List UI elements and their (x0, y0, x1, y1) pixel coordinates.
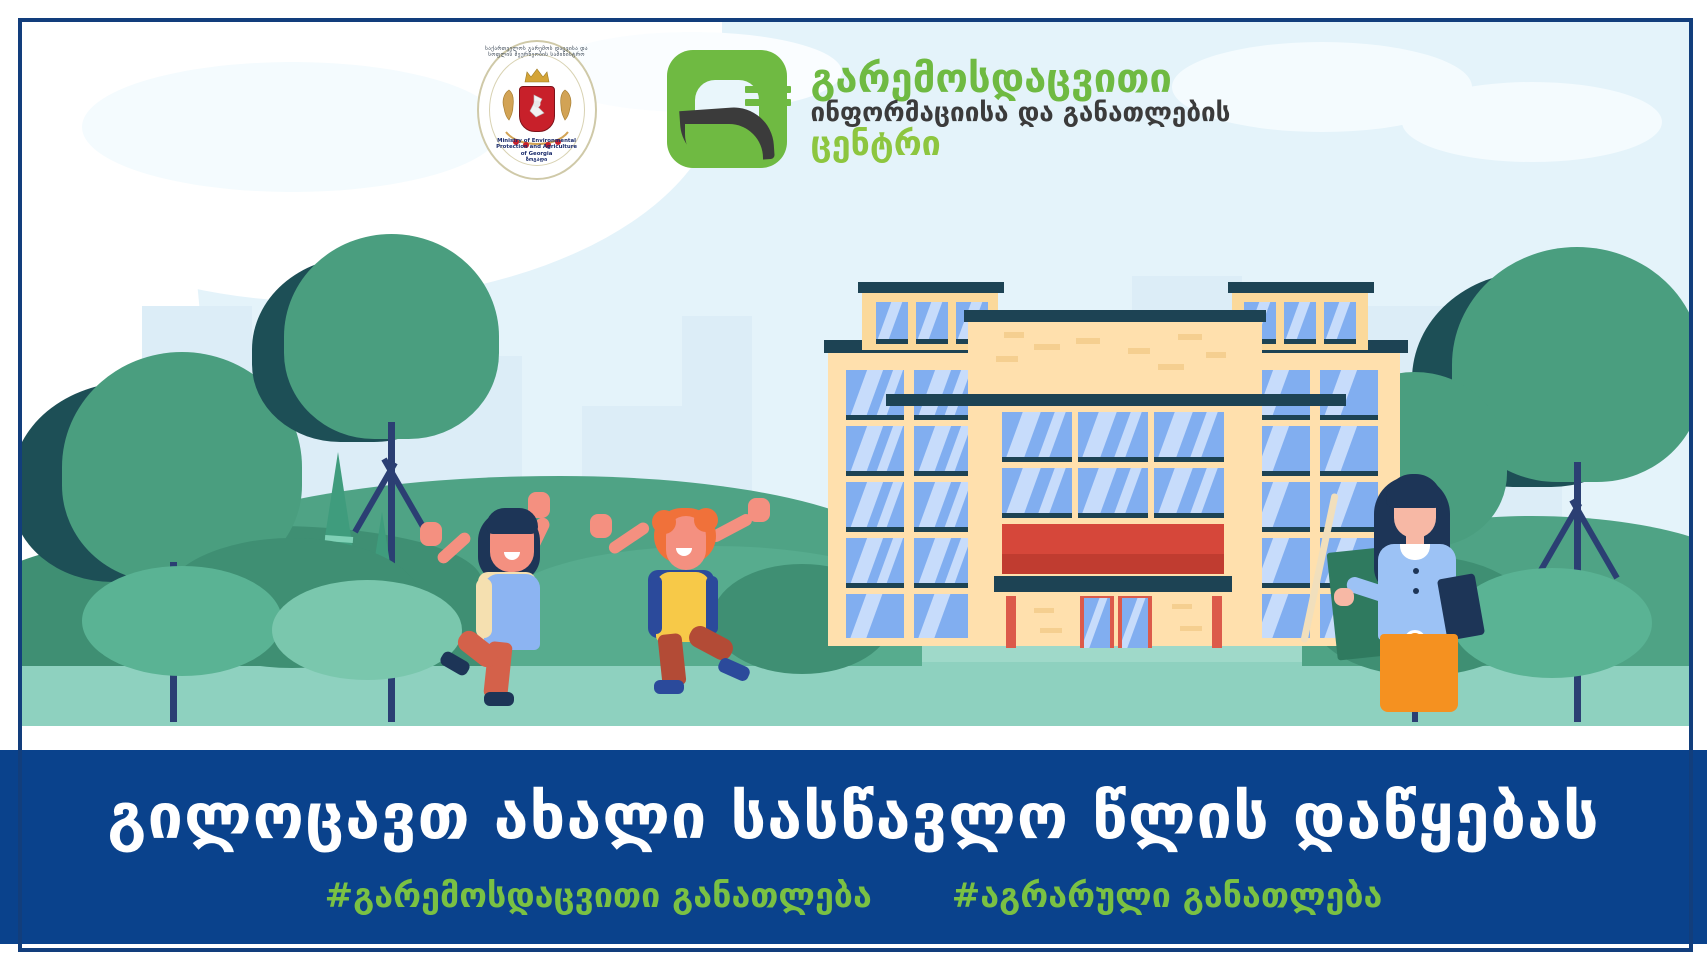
student-girl-waving (442, 486, 612, 706)
ciee-logo-text: გარემოსდაცვითი ინფორმაციისა და განათლები… (811, 58, 1231, 163)
heraldic-lion-left-icon (499, 88, 519, 122)
student-boy-waving (612, 492, 782, 704)
emblem-en-line-2: Protection and Agriculture (477, 144, 597, 151)
hashtag-environmental-education[interactable]: #გარემოსდაცვითი განათლება (325, 876, 872, 916)
ciee-logo-mark (667, 50, 797, 170)
heraldic-lion-right-icon (555, 88, 575, 122)
logo-row: საქართველოს გარემოს დაცვისა და სოფლის მე… (0, 40, 1707, 180)
green-bars-icon (745, 86, 791, 112)
headline-text: გილოცავთ ახალი სასწავლო წლის დაწყებას (0, 784, 1707, 850)
emblem-english-text: Ministry of Environmental Protection and… (477, 138, 597, 164)
environmental-information-education-center-logo: გარემოსდაცვითი ინფორმაციისა და განათლები… (667, 50, 1231, 170)
crown-icon (524, 68, 550, 84)
bush-shape (82, 566, 282, 676)
emblem-en-line-1: Ministry of Environmental (477, 138, 597, 145)
ciee-line-3: ცენტრი (811, 127, 1231, 163)
emblem-en-line-4: ზოგადი (477, 157, 597, 164)
bush-shape (272, 580, 462, 680)
hashtag-row: #გარემოსდაცვითი განათლება #აგრარული განა… (0, 876, 1707, 916)
emblem-en-line-3: of Georgia (477, 151, 597, 158)
emblem-georgian-text: საქართველოს გარემოს დაცვისა და სოფლის მე… (477, 46, 597, 58)
bottom-banner: გილოცავთ ახალი სასწავლო წლის დაწყებას #გ… (0, 750, 1707, 944)
ciee-line-1: გარემოსდაცვითი (811, 58, 1231, 100)
hashtag-agrarian-education[interactable]: #აგრარული განათლება (952, 876, 1383, 916)
ministry-emblem: საქართველოს გარემოს დაცვისა და სოფლის მე… (477, 40, 597, 180)
teacher-with-pointer (1312, 452, 1492, 712)
georgia-coat-of-arms-shield (519, 86, 555, 132)
ciee-line-2: ინფორმაციისა და განათლების (811, 100, 1231, 127)
poster-root: საქართველოს გარემოს დაცვისა და სოფლის მე… (0, 0, 1707, 966)
